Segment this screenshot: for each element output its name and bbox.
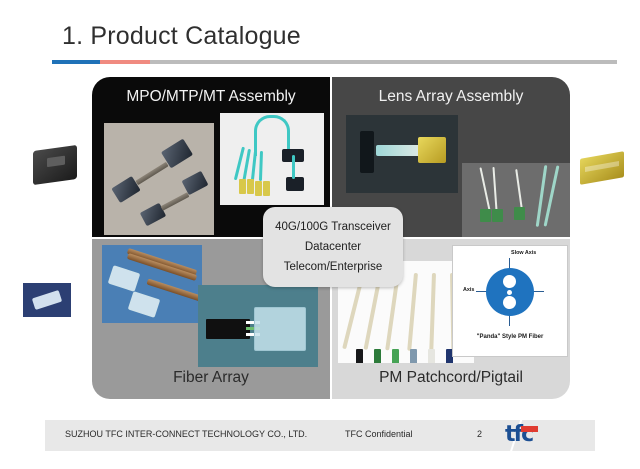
panel-lens-label: Lens Array Assembly xyxy=(332,88,570,106)
applications-callout: 40G/100G Transceiver Datacenter Telecom/… xyxy=(263,207,403,287)
panda-axis-label: Axis xyxy=(463,287,474,293)
divider-segment-blue xyxy=(52,60,100,64)
tfc-logo: tfc xyxy=(505,424,567,447)
divider-segment-red xyxy=(100,60,150,64)
mpo-ribbon-cable-photo xyxy=(220,113,324,205)
fiber-array-rods-photo xyxy=(102,245,202,323)
panda-slow-axis-label: Slow Axis xyxy=(511,250,536,256)
fiber-array-ferrule-photo xyxy=(198,285,318,367)
panda-caption: "Panda" Style PM Fiber xyxy=(453,334,567,340)
lens-array-part-image xyxy=(580,151,624,185)
page-title: 1. Product Catalogue xyxy=(62,22,301,51)
panel-fiber-array-label: Fiber Array xyxy=(92,369,330,387)
callout-line-datacenter: Datacenter xyxy=(305,241,361,253)
panel-pm-patchcord-label: PM Patchcord/Pigtail xyxy=(332,369,570,387)
callout-line-transceiver: 40G/100G Transceiver xyxy=(275,221,391,233)
panel-mpo-label: MPO/MTP/MT Assembly xyxy=(92,88,330,106)
lens-array-assembly-photo xyxy=(346,115,458,193)
footer-confidential-notice: TFC Confidential xyxy=(345,429,413,439)
panda-pm-fiber-diagram: Slow Axis Axis "Panda" Style PM Fiber xyxy=(452,245,568,357)
lens-array-cables-photo xyxy=(462,163,570,237)
title-divider xyxy=(52,60,617,64)
footer-company-name: SUZHOU TFC INTER-CONNECT TECHNOLOGY CO.,… xyxy=(65,429,307,439)
slide-footer: SUZHOU TFC INTER-CONNECT TECHNOLOGY CO.,… xyxy=(45,420,595,451)
mpo-connector-photo xyxy=(104,123,214,235)
footer-page-number: 2 xyxy=(477,429,482,439)
callout-line-telecom: Telecom/Enterprise xyxy=(284,261,382,273)
fiber-array-chip-image xyxy=(23,283,71,317)
divider-segment-gray xyxy=(150,60,617,64)
mt-ferrule-part-image xyxy=(33,145,77,185)
tfc-logo-accent-bar xyxy=(521,426,538,432)
